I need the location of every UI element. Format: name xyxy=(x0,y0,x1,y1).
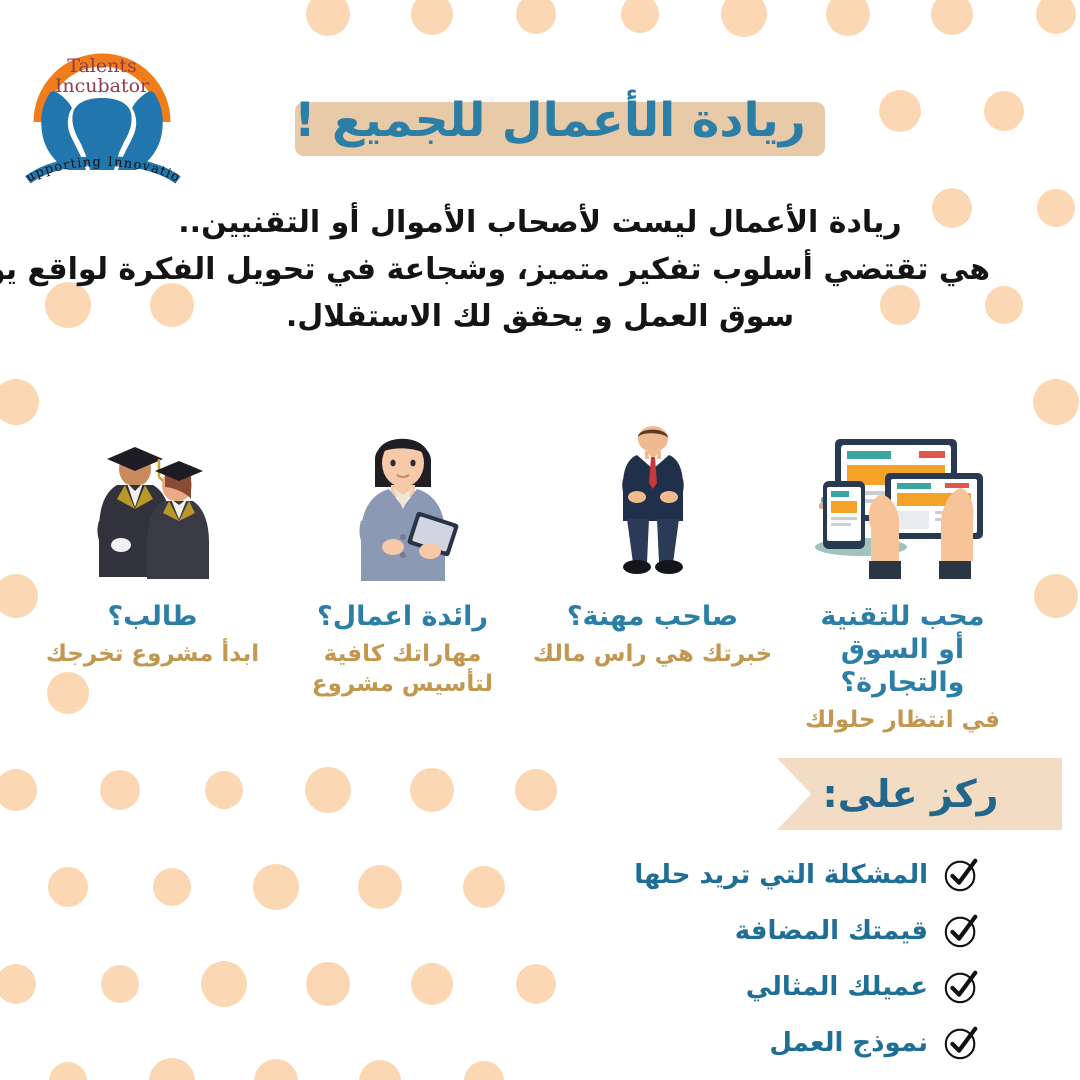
persona-columns: محب للتقنية أو السوق والتجارة؟ في انتظار… xyxy=(30,425,1025,735)
persona-professional-title: صاحب مهنة؟ xyxy=(530,601,775,634)
decorative-dot xyxy=(516,0,556,34)
decorative-dot xyxy=(985,286,1023,324)
persona-professional-subtitle: خبرتك هي راس مالك xyxy=(530,640,775,670)
decorative-dot xyxy=(0,769,37,811)
decorative-dot xyxy=(516,964,556,1004)
decorative-dot xyxy=(0,964,36,1004)
decorative-dot xyxy=(306,962,350,1006)
decorative-dot xyxy=(411,0,453,35)
persona-professional: صاحب مهنة؟ خبرتك هي راس مالك xyxy=(530,425,775,670)
checklist-item-label: المشكلة التي تريد حلها xyxy=(634,860,928,890)
persona-tech-title: محب للتقنية أو السوق والتجارة؟ xyxy=(780,601,1025,700)
decorative-dot xyxy=(305,767,351,813)
decorative-dot xyxy=(254,1059,298,1080)
decorative-dot xyxy=(826,0,870,36)
decorative-dot xyxy=(1033,379,1079,425)
decorative-dot xyxy=(721,0,767,37)
decorative-dot xyxy=(49,1062,87,1080)
decorative-dot xyxy=(101,965,139,1003)
logo-line-1: Talents xyxy=(67,55,136,77)
persona-entrepreneur-subtitle: مهاراتك كافية لتأسيس مشروع xyxy=(280,640,525,700)
checklist-item-label: قيمتك المضافة xyxy=(735,916,928,946)
decorative-dot xyxy=(48,867,88,907)
decorative-dot xyxy=(463,866,505,908)
intro-line-2: هي تقتضي أسلوب تفكير متميز، وشجاعة في تح… xyxy=(90,247,990,294)
checklist-item: نموذج العمل xyxy=(560,1023,980,1063)
decorative-dot xyxy=(621,0,659,33)
infographic-poster: Talents Incubator Supporting Innovation … xyxy=(0,0,1080,1080)
decorative-dot xyxy=(253,864,299,910)
decorative-dot xyxy=(1037,189,1075,227)
focus-checklist: المشكلة التي تريد حلها قيمتك المضافة عمي… xyxy=(560,855,980,1079)
decorative-dot xyxy=(201,961,247,1007)
page-title: ريادة الأعمال للجميع ! xyxy=(270,86,830,157)
decorative-dot xyxy=(359,1060,401,1080)
talents-incubator-logo: Talents Incubator Supporting Innovation xyxy=(12,14,192,194)
persona-entrepreneur: رائدة اعمال؟ مهاراتك كافية لتأسيس مشروع xyxy=(280,425,525,700)
persona-student: طالب؟ ابدأ مشروع تخرجك xyxy=(30,425,275,670)
businessman-icon xyxy=(530,425,775,585)
check-circle-icon xyxy=(942,856,980,894)
graduates-icon xyxy=(30,425,275,585)
tech-devices-icon xyxy=(780,425,1025,585)
decorative-dot xyxy=(306,0,350,36)
intro-line-1: ريادة الأعمال ليست لأصحاب الأموال أو الت… xyxy=(90,200,990,247)
persona-tech-subtitle: في انتظار حلولك xyxy=(780,706,1025,736)
check-circle-icon xyxy=(942,1024,980,1062)
decorative-dot xyxy=(879,90,921,132)
intro-line-3: سوق العمل و يحقق لك الاستقلال. xyxy=(90,294,990,341)
intro-paragraph: ريادة الأعمال ليست لأصحاب الأموال أو الت… xyxy=(90,200,990,340)
decorative-dot xyxy=(153,868,191,906)
businesswoman-icon xyxy=(280,425,525,585)
persona-student-subtitle: ابدأ مشروع تخرجك xyxy=(30,640,275,670)
decorative-dot xyxy=(100,770,140,810)
decorative-dot xyxy=(149,1058,195,1080)
persona-student-title: طالب؟ xyxy=(30,601,275,634)
checklist-item: المشكلة التي تريد حلها xyxy=(560,855,980,895)
checklist-item: قيمتك المضافة xyxy=(560,911,980,951)
checklist-item-label: عميلك المثالي xyxy=(746,972,928,1002)
decorative-dot xyxy=(515,769,557,811)
persona-tech-title-line2: أو السوق والتجارة؟ xyxy=(841,634,965,698)
logo-line-2: Incubator xyxy=(55,75,150,97)
decorative-dot xyxy=(411,963,453,1005)
checklist-item-label: نموذج العمل xyxy=(769,1028,928,1058)
persona-tech-title-line1: محب للتقنية xyxy=(820,601,984,632)
check-circle-icon xyxy=(942,968,980,1006)
decorative-dot xyxy=(0,379,39,425)
decorative-dot xyxy=(464,1061,504,1080)
focus-ribbon: ركز على: xyxy=(777,758,1062,830)
checklist-item: عميلك المثالي xyxy=(560,967,980,1007)
check-circle-icon xyxy=(942,912,980,950)
decorative-dot xyxy=(984,91,1024,131)
persona-tech: محب للتقنية أو السوق والتجارة؟ في انتظار… xyxy=(780,425,1025,736)
persona-entrepreneur-title: رائدة اعمال؟ xyxy=(280,601,525,634)
decorative-dot xyxy=(205,771,243,809)
focus-ribbon-label: ركز على: xyxy=(777,758,1062,830)
decorative-dot xyxy=(410,768,454,812)
decorative-dot xyxy=(931,0,973,35)
decorative-dot xyxy=(1034,574,1078,618)
decorative-dot xyxy=(1036,0,1076,34)
decorative-dot xyxy=(358,865,402,909)
